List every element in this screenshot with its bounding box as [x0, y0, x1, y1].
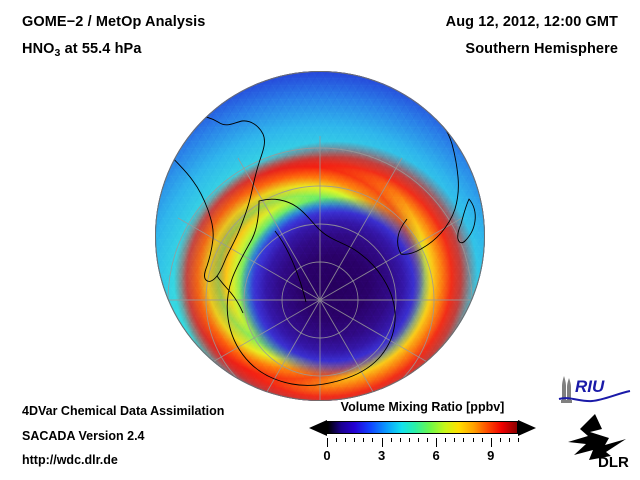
dlr-logo-text: DLR: [598, 454, 629, 470]
region-label: Southern Hemisphere: [465, 41, 618, 57]
colorbar-minor-tick: [427, 438, 428, 442]
colorbar-minor-tick: [391, 438, 392, 442]
colorbar-minor-tick: [372, 438, 373, 442]
species-formula-prefix: HNO: [22, 41, 55, 57]
colorbar-minor-tick: [500, 438, 501, 442]
colorbar-minor-tick: [463, 438, 464, 442]
species-pressure-title: HNO3 at 55.4 hPa: [22, 41, 141, 59]
colorbar-tick-label: 9: [487, 448, 494, 463]
globe-outline: [155, 71, 485, 401]
colorbar-gradient: [327, 421, 518, 434]
colorbar-major-tick: [327, 438, 328, 447]
colorbar-tick-label: 6: [433, 448, 440, 463]
colorbar-minor-tick: [345, 438, 346, 442]
colorbar-row: [305, 419, 540, 437]
colorbar-minor-tick: [482, 438, 483, 442]
visualization-page: GOME−2 / MetOp Analysis HNO3 at 55.4 hPa…: [0, 0, 640, 480]
colorbar-minor-tick: [445, 438, 446, 442]
colorbar-minor-tick: [473, 438, 474, 442]
colorbar-extend-low-arrow: [309, 420, 327, 436]
colorbar-minor-tick: [400, 438, 401, 442]
polar-stereographic-map: [155, 71, 485, 401]
colorbar-extend-high-arrow: [518, 420, 536, 436]
dlr-logo: DLR: [562, 412, 632, 470]
colorbar-minor-tick: [363, 438, 364, 442]
colorbar-minor-tick: [336, 438, 337, 442]
colorbar-major-tick: [382, 438, 383, 447]
datetime-label: Aug 12, 2012, 12:00 GMT: [446, 14, 618, 30]
colorbar-major-tick: [491, 438, 492, 447]
version-label: SACADA Version 2.4: [22, 429, 145, 443]
colorbar-minor-tick: [518, 438, 519, 442]
website-url[interactable]: http://wdc.dlr.de: [22, 453, 118, 467]
colorbar-tick-label: 0: [323, 448, 330, 463]
riu-logo-text: RIU: [575, 377, 605, 396]
colorbar-minor-tick: [418, 438, 419, 442]
instrument-title: GOME−2 / MetOp Analysis: [22, 14, 205, 30]
colorbar-ticks: [305, 438, 540, 447]
colorbar-labels: 0369: [305, 448, 540, 464]
colorbar-tick-label: 3: [378, 448, 385, 463]
colorbar-minor-tick: [354, 438, 355, 442]
colorbar-major-tick: [436, 438, 437, 447]
colorbar-minor-tick: [509, 438, 510, 442]
colorbar: Volume Mixing Ratio [ppbv] 0369: [305, 400, 540, 464]
method-label: 4DVar Chemical Data Assimilation: [22, 404, 224, 418]
colorbar-title: Volume Mixing Ratio [ppbv]: [305, 400, 540, 414]
colorbar-minor-tick: [454, 438, 455, 442]
colorbar-minor-tick: [409, 438, 410, 442]
riu-logo: RIU: [558, 374, 632, 404]
species-pressure-suffix: at 55.4 hPa: [60, 41, 141, 57]
